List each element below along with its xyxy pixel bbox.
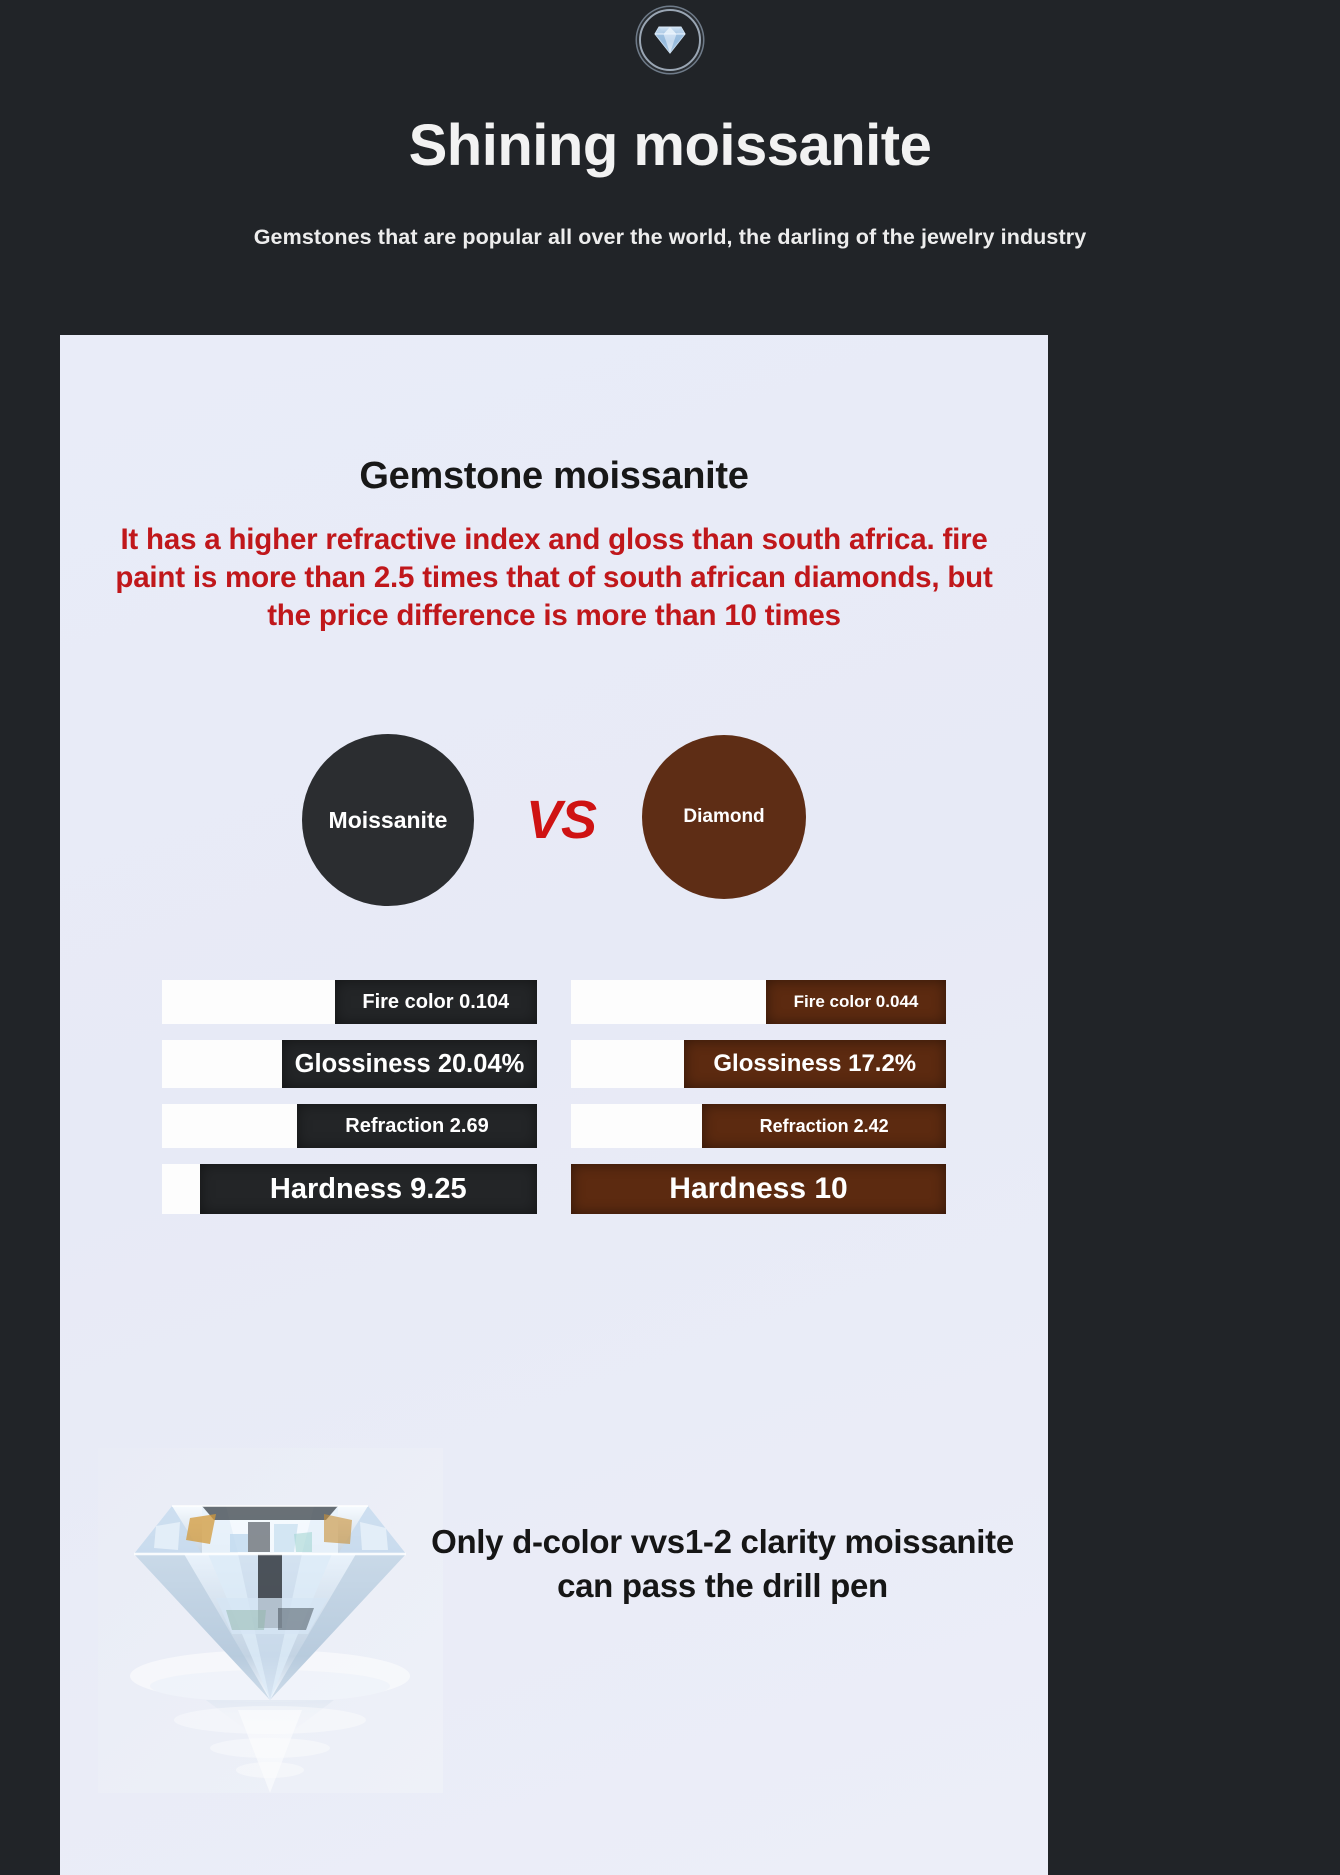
bar-fill-glossiness: Glossiness 17.2% xyxy=(684,1040,947,1088)
bar-row: Glossiness 20.04% xyxy=(162,1040,537,1088)
card-description: It has a higher refractive index and glo… xyxy=(94,521,1014,634)
bar-fill-refraction: Refraction 2.69 xyxy=(297,1104,537,1148)
bar-row: Glossiness 17.2% xyxy=(571,1040,946,1088)
bottom-caption: Only d-color vvs1-2 clarity moissanite c… xyxy=(410,1520,1035,1607)
bar-column-diamond: Fire color 0.044Glossiness 17.2%Refracti… xyxy=(571,980,946,1230)
comparison-bars: Fire color 0.104Glossiness 20.04%Refract… xyxy=(60,980,1048,1230)
bubble-diamond-label: Diamond xyxy=(683,806,764,828)
bar-fill-glossiness: Glossiness 20.04% xyxy=(282,1040,537,1088)
bar-row: Refraction 2.69 xyxy=(162,1104,537,1148)
logo-container xyxy=(0,9,1340,71)
bar-row: Hardness 9.25 xyxy=(162,1164,537,1214)
bar-fill-refraction: Refraction 2.42 xyxy=(702,1104,946,1148)
diamond-badge-icon xyxy=(639,9,701,71)
bar-fill-hardness: Hardness 10 xyxy=(571,1164,946,1214)
bubble-moissanite: Moissanite xyxy=(302,734,474,906)
bubble-moissanite-label: Moissanite xyxy=(329,807,448,834)
card-title: Gemstone moissanite xyxy=(60,455,1048,498)
bar-column-moissanite: Fire color 0.104Glossiness 20.04%Refract… xyxy=(162,980,537,1230)
bubble-diamond: Diamond xyxy=(642,735,806,899)
bar-row: Fire color 0.044 xyxy=(571,980,946,1024)
infographic-page: Shining moissanite Gemstones that are po… xyxy=(0,0,1340,1875)
brilliant-cut-diamond-photo xyxy=(98,1448,443,1793)
page-subtitle: Gemstones that are popular all over the … xyxy=(0,225,1340,250)
bar-fill-fire-color: Fire color 0.044 xyxy=(766,980,946,1024)
bar-fill-fire-color: Fire color 0.104 xyxy=(335,980,538,1024)
bar-fill-hardness: Hardness 9.25 xyxy=(200,1164,538,1214)
comparison-card: Gemstone moissanite It has a higher refr… xyxy=(60,335,1048,1875)
bar-row: Hardness 10 xyxy=(571,1164,946,1214)
bar-row: Fire color 0.104 xyxy=(162,980,537,1024)
versus-row: Moissanite VS Diamond xyxy=(60,730,1048,910)
page-title: Shining moissanite xyxy=(0,113,1340,180)
bar-row: Refraction 2.42 xyxy=(571,1104,946,1148)
vs-label: VS xyxy=(526,789,596,851)
